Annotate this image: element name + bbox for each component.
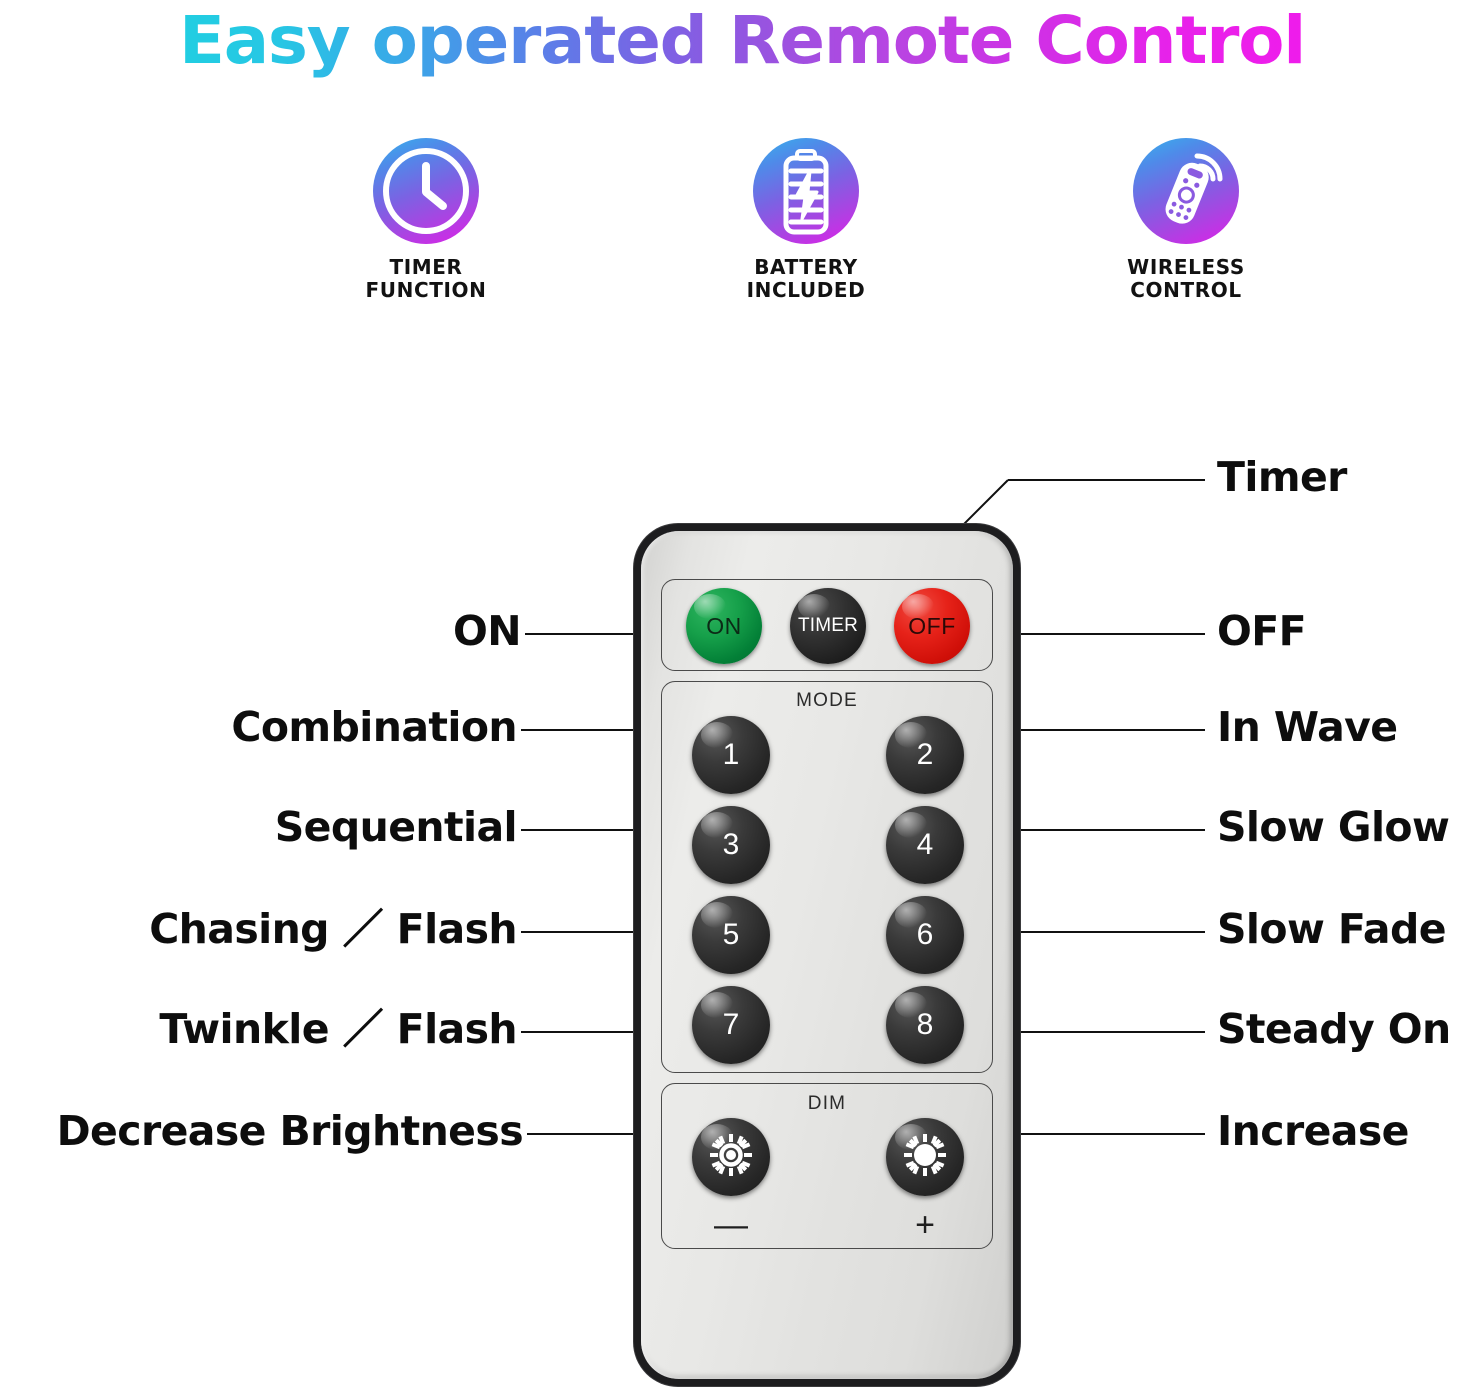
off-button[interactable]: OFF: [894, 588, 970, 664]
callout-slow-fade: Slow Fade: [1217, 909, 1446, 950]
mode-button-5[interactable]: 5: [692, 896, 770, 974]
feature-timer-function: TIMER FUNCTION: [311, 138, 541, 302]
feature-label-line2: INCLUDED: [747, 278, 866, 302]
dim-minus-sign: —: [692, 1208, 770, 1242]
feature-label-line1: WIRELESS: [1127, 255, 1245, 279]
mode-button-1-label: 1: [723, 738, 740, 772]
callout-decrease-brightness: Decrease Brightness: [57, 1111, 523, 1152]
battery-bolt-icon: [753, 138, 859, 244]
callout-sequential: Sequential: [275, 807, 517, 848]
mode-caption: MODE: [662, 690, 992, 712]
feature-label-line1: TIMER: [389, 255, 462, 279]
dim-plus-sign: +: [886, 1208, 964, 1242]
power-panel: ON TIMER OFF: [661, 579, 993, 671]
callout-slow-glow: Slow Glow: [1217, 807, 1449, 848]
on-button[interactable]: ON: [686, 588, 762, 664]
dim-panel: DIM: [661, 1083, 993, 1249]
callout-chasing-flash: Chasing ／ Flash: [149, 909, 517, 950]
brightness-high-icon: [898, 1128, 952, 1187]
mode-button-2-label: 2: [917, 738, 934, 772]
mode-button-4-label: 4: [917, 828, 934, 862]
callout-timer: Timer: [1217, 457, 1347, 498]
feature-battery-included: BATTERY INCLUDED: [691, 138, 921, 302]
mode-button-7[interactable]: 7: [692, 986, 770, 1064]
infographic-page: Easy operated Remote Control TIMER FUNCT…: [0, 0, 1484, 1388]
mode-button-3-label: 3: [723, 828, 740, 862]
mode-button-8-label: 8: [917, 1008, 934, 1042]
feature-label: TIMER FUNCTION: [366, 256, 487, 302]
page-title-text: Easy operated Remote Control: [179, 2, 1305, 79]
off-button-label: OFF: [908, 613, 956, 640]
callout-twinkle-flash: Twinkle ／ Flash: [159, 1009, 517, 1050]
feature-label: BATTERY INCLUDED: [747, 256, 866, 302]
callout-on: ON: [453, 611, 521, 652]
feature-label-line2: FUNCTION: [366, 278, 487, 302]
mode-button-1[interactable]: 1: [692, 716, 770, 794]
mode-button-4[interactable]: 4: [886, 806, 964, 884]
dim-increase-button[interactable]: [886, 1118, 964, 1196]
callout-increase: Increase: [1217, 1111, 1409, 1152]
feature-label: WIRELESS CONTROL: [1127, 256, 1245, 302]
callout-combination: Combination: [231, 707, 517, 748]
dim-caption: DIM: [662, 1093, 992, 1115]
mode-button-8[interactable]: 8: [886, 986, 964, 1064]
page-title: Easy operated Remote Control: [0, 0, 1484, 82]
timer-button[interactable]: TIMER: [790, 588, 866, 664]
mode-button-2[interactable]: 2: [886, 716, 964, 794]
mode-button-7-label: 7: [723, 1008, 740, 1042]
callout-steady-on: Steady On: [1217, 1009, 1451, 1050]
mode-button-5-label: 5: [723, 918, 740, 952]
clock-icon: [373, 138, 479, 244]
dim-decrease-button[interactable]: [692, 1118, 770, 1196]
remote-control-device: ON TIMER OFF MODE 1 2 3: [634, 524, 1020, 1386]
on-button-label: ON: [706, 613, 742, 640]
mode-button-6-label: 6: [917, 918, 934, 952]
mode-panel: MODE 1 2 3 4 5 6: [661, 681, 993, 1073]
remote-wifi-icon: [1133, 138, 1239, 244]
mode-button-3[interactable]: 3: [692, 806, 770, 884]
brightness-low-icon: [704, 1128, 758, 1187]
mode-button-6[interactable]: 6: [886, 896, 964, 974]
feature-label-line2: CONTROL: [1130, 278, 1241, 302]
callout-in-wave: In Wave: [1217, 707, 1397, 748]
callout-off: OFF: [1217, 611, 1306, 652]
remote-face: ON TIMER OFF MODE 1 2 3: [641, 531, 1013, 1379]
timer-button-label: TIMER: [798, 615, 858, 637]
feature-wireless-control: WIRELESS CONTROL: [1071, 138, 1301, 302]
feature-label-line1: BATTERY: [754, 255, 858, 279]
